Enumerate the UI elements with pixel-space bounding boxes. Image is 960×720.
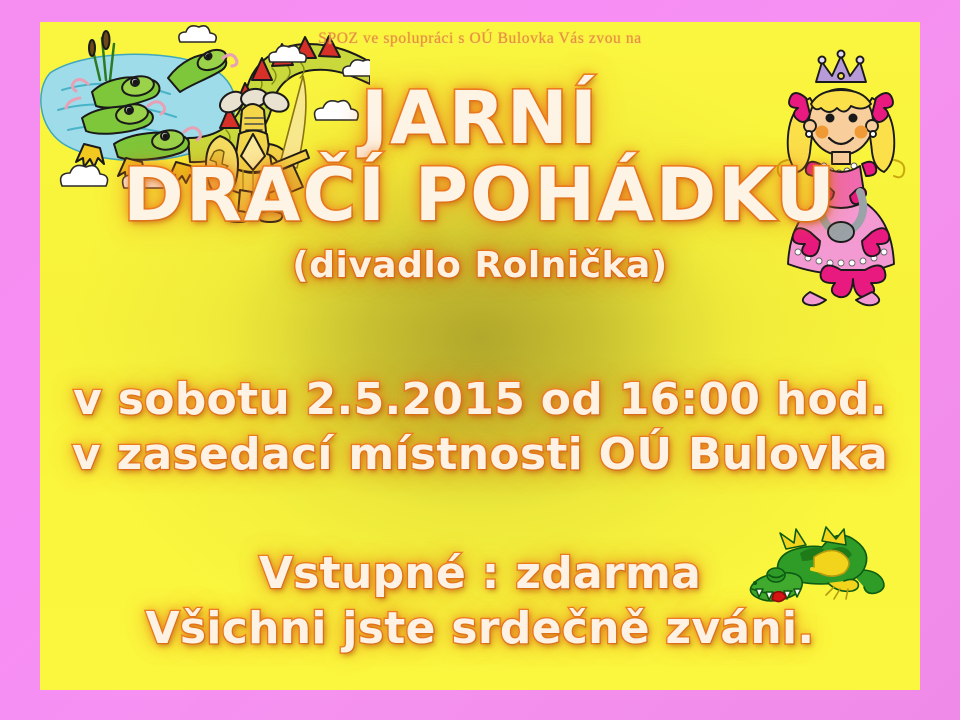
event-date-time-line: v sobotu 2.5.2015 od 16:00 hod. xyxy=(40,372,920,427)
welcome-invitation-line: Všichni jste srdečně zváni. xyxy=(40,601,920,656)
admission-price-line: Vstupné : zdarma xyxy=(40,546,920,601)
poster-title-line-1: JARNÍ xyxy=(40,80,920,157)
poster-title-block: JARNÍ DRAČÍ POHÁDKU (divadlo Rolnička) xyxy=(40,80,920,286)
poster-title-line-2: DRAČÍ POHÁDKU xyxy=(40,157,920,234)
poster-inner-panel: SPOZ ve spolupráci s OÚ Bulovka Vás zvou… xyxy=(40,22,920,690)
organizer-invite-text: SPOZ ve spolupráci s OÚ Bulovka Vás zvou… xyxy=(40,30,920,48)
closing-block: Vstupné : zdarma Všichni jste srdečně zv… xyxy=(40,546,920,657)
event-venue-line: v zasedací místnosti OÚ Bulovka xyxy=(40,427,920,482)
poster-subtitle-theatre-name: (divadlo Rolnička) xyxy=(40,245,920,286)
event-details-block: v sobotu 2.5.2015 od 16:00 hod. v zaseda… xyxy=(40,372,920,483)
poster-canvas: SPOZ ve spolupráci s OÚ Bulovka Vás zvou… xyxy=(0,0,960,720)
